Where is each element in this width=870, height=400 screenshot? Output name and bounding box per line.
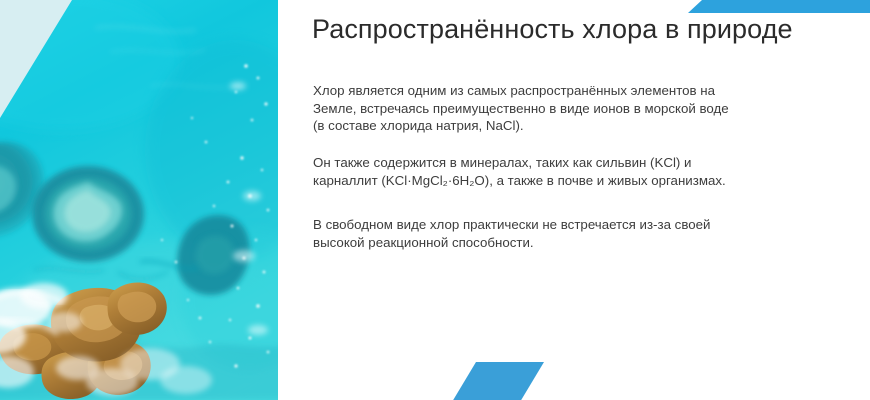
paragraph-line: Земле, встречаясь преимущественно в виде… [313, 100, 793, 118]
body-paragraph-2: Он также содержится в минералах, таких к… [313, 154, 793, 189]
paragraph-line: карналлит (KCl·MgCl₂·6H₂O), а также в по… [313, 172, 793, 190]
body-paragraph-1: Хлор является одним из самых распростран… [313, 82, 793, 135]
ocean-photo [0, 0, 278, 400]
slide-content: Распространённость хлора в природе Хлор … [312, 0, 852, 400]
body-paragraph-3: В свободном виде хлор практически не вст… [313, 216, 793, 251]
paragraph-line: (в составе хлорида натрия, NaCl). [313, 117, 793, 135]
paragraph-line: высокой реакционной способности. [313, 234, 793, 252]
paragraph-line: Хлор является одним из самых распростран… [313, 82, 793, 100]
paragraph-line: В свободном виде хлор практически не вст… [313, 216, 793, 234]
paragraph-line: Он также содержится в минералах, таких к… [313, 154, 793, 172]
page-title: Распространённость хлора в природе [312, 12, 793, 46]
slide-canvas: Распространённость хлора в природе Хлор … [0, 0, 870, 400]
